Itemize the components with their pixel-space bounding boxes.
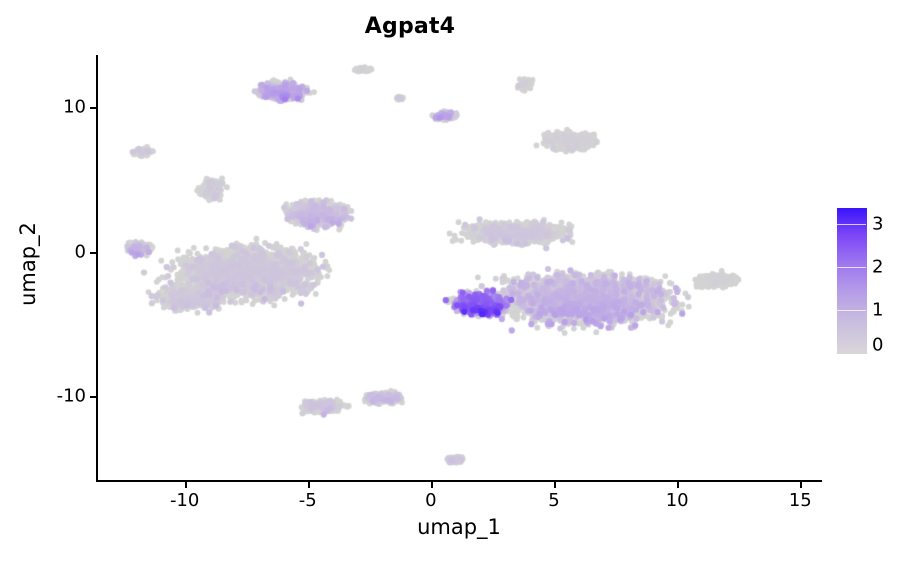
colorbar-tick-label: 2 [872, 257, 883, 278]
x-tick-label: -5 [299, 490, 317, 511]
y-tick-label: 10 [63, 97, 86, 118]
y-tick-mark [90, 252, 96, 254]
y-tick-mark [90, 396, 96, 398]
x-tick-mark [800, 482, 802, 488]
x-axis-spine [96, 480, 822, 482]
x-tick-label: 0 [425, 490, 436, 511]
x-tick-label: -10 [170, 490, 199, 511]
y-tick-label: 0 [75, 241, 86, 262]
y-axis-ticks: 100-10 [0, 0, 86, 562]
page-title: Agpat4 [0, 14, 820, 39]
x-tick-mark [308, 482, 310, 488]
colorbar-tick-mark [836, 310, 866, 311]
colorbar-tick-label: 1 [872, 300, 883, 321]
x-tick-mark [185, 482, 187, 488]
umap-feature-plot: Agpat4 -10-5051015 100-10 umap_1 umap_2 … [0, 0, 911, 562]
colorbar-tick-label: 0 [872, 335, 883, 356]
colorbar-tick-label: 3 [872, 214, 883, 235]
x-axis-label: umap_1 [96, 515, 822, 539]
y-tick-mark [90, 107, 96, 109]
x-tick-label: 5 [548, 490, 559, 511]
colorbar-gradient [836, 207, 868, 355]
colorbar-tick-mark [836, 224, 866, 225]
x-tick-label: 15 [789, 490, 812, 511]
x-tick-mark [554, 482, 556, 488]
x-tick-label: 10 [666, 490, 689, 511]
y-axis-label: umap_2 [16, 174, 40, 354]
x-tick-mark [431, 482, 433, 488]
x-tick-mark [677, 482, 679, 488]
colorbar-tick-mark [836, 267, 866, 268]
scatter-plot-canvas [96, 55, 820, 480]
y-tick-label: -10 [57, 386, 86, 407]
